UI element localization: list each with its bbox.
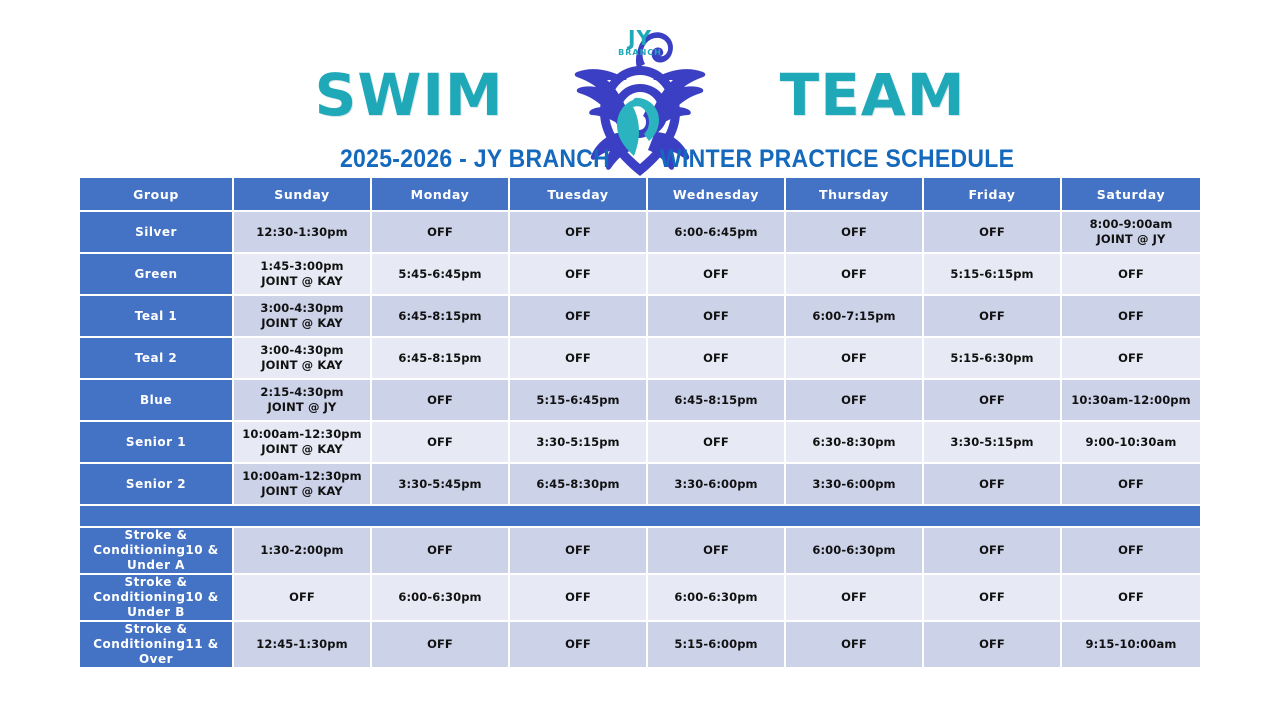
cell-line-1: 1:45-3:00pm	[260, 259, 343, 273]
schedule-cell: OFF	[372, 422, 510, 464]
cell-line-1: OFF	[1118, 477, 1144, 491]
group-label: Blue	[80, 380, 234, 422]
cell-line-1: OFF	[565, 351, 591, 365]
schedule-cell: 8:00-9:00amJOINT @ JY	[1062, 212, 1200, 254]
schedule-cell: OFF	[786, 338, 924, 380]
schedule-cell: OFF	[510, 338, 648, 380]
cell-line-1: OFF	[427, 225, 453, 239]
cell-line-1: OFF	[1118, 309, 1144, 323]
schedule-cell: OFF	[648, 296, 786, 338]
cell-line-2: JOINT @ JY	[1062, 232, 1200, 247]
table-body: Silver12:30-1:30pmOFFOFF6:00-6:45pmOFFOF…	[80, 212, 1200, 669]
cell-line-1: 10:00am-12:30pm	[242, 469, 361, 483]
cell-line-1: 5:15-6:15pm	[950, 267, 1033, 281]
schedule-cell: 3:00-4:30pmJOINT @ KAY	[234, 296, 372, 338]
logo-branch-text: BRANCH	[555, 48, 725, 57]
schedule-cell: 6:00-6:30pm	[372, 575, 510, 622]
schedule-cell: OFF	[1062, 296, 1200, 338]
column-header-tuesday: Tuesday	[510, 178, 648, 212]
schedule-cell: OFF	[786, 575, 924, 622]
cell-line-1: OFF	[841, 267, 867, 281]
cell-line-1: OFF	[979, 477, 1005, 491]
cell-line-1: 1:30-2:00pm	[260, 543, 343, 557]
schedule-title-label: WINTER PRACTICE SCHEDULE	[660, 144, 1028, 174]
column-header-sunday: Sunday	[234, 178, 372, 212]
schedule-cell: 3:30-5:15pm	[924, 422, 1062, 464]
schedule-cell: 10:00am-12:30pmJOINT @ KAY	[234, 422, 372, 464]
cell-line-1: 5:15-6:30pm	[950, 351, 1033, 365]
cell-line-1: OFF	[703, 267, 729, 281]
cell-line-1: OFF	[979, 590, 1005, 604]
schedule-cell: OFF	[372, 380, 510, 422]
schedule-cell: 3:30-5:15pm	[510, 422, 648, 464]
cell-line-1: 5:45-6:45pm	[398, 267, 481, 281]
schedule-cell: OFF	[924, 464, 1062, 506]
cell-line-1: 6:45-8:30pm	[536, 477, 619, 491]
section-divider-row	[80, 506, 1200, 528]
cell-line-1: OFF	[841, 590, 867, 604]
cell-line-1: OFF	[565, 637, 591, 651]
cell-line-1: 6:30-8:30pm	[812, 435, 895, 449]
schedule-cell: OFF	[924, 296, 1062, 338]
cell-line-2: JOINT @ KAY	[234, 274, 370, 289]
schedule-cell: 5:15-6:45pm	[510, 380, 648, 422]
cell-line-1: OFF	[1118, 543, 1144, 557]
cell-line-1: OFF	[841, 393, 867, 407]
column-header-monday: Monday	[372, 178, 510, 212]
schedule-cell: OFF	[510, 296, 648, 338]
cell-line-2: JOINT @ KAY	[234, 484, 370, 499]
schedule-cell: 1:30-2:00pm	[234, 528, 372, 575]
cell-line-1: 3:30-5:45pm	[398, 477, 481, 491]
group-label: Teal 1	[80, 296, 234, 338]
group-label: Teal 2	[80, 338, 234, 380]
schedule-cell: 9:15-10:00am	[1062, 622, 1200, 669]
schedule-cell: OFF	[234, 575, 372, 622]
cell-line-1: 9:15-10:00am	[1086, 637, 1177, 651]
cell-line-1: OFF	[979, 393, 1005, 407]
cell-line-1: OFF	[841, 351, 867, 365]
section-divider-band	[80, 506, 1200, 528]
cell-line-1: 3:30-5:15pm	[536, 435, 619, 449]
cell-line-2: JOINT @ JY	[234, 400, 370, 415]
schedule-cell: OFF	[648, 254, 786, 296]
schedule-cell: OFF	[648, 338, 786, 380]
schedule-cell: 5:15-6:00pm	[648, 622, 786, 669]
group-label: Green	[80, 254, 234, 296]
schedule-cell: 6:00-7:15pm	[786, 296, 924, 338]
table-row: Teal 23:00-4:30pmJOINT @ KAY6:45-8:15pmO…	[80, 338, 1200, 380]
cell-line-1: 6:45-8:15pm	[398, 309, 481, 323]
schedule-cell: OFF	[372, 622, 510, 669]
table-row: Teal 13:00-4:30pmJOINT @ KAY6:45-8:15pmO…	[80, 296, 1200, 338]
column-header-saturday: Saturday	[1062, 178, 1200, 212]
table-row: Blue2:15-4:30pmJOINT @ JYOFF5:15-6:45pm6…	[80, 380, 1200, 422]
schedule-cell: OFF	[786, 212, 924, 254]
cell-line-1: OFF	[979, 637, 1005, 651]
schedule-cell: 1:45-3:00pmJOINT @ KAY	[234, 254, 372, 296]
schedule-cell: OFF	[1062, 254, 1200, 296]
table-row: Green1:45-3:00pmJOINT @ KAY5:45-6:45pmOF…	[80, 254, 1200, 296]
cell-line-1: OFF	[841, 225, 867, 239]
schedule-cell: OFF	[786, 622, 924, 669]
schedule-cell: 5:15-6:30pm	[924, 338, 1062, 380]
table-row: Silver12:30-1:30pmOFFOFF6:00-6:45pmOFFOF…	[80, 212, 1200, 254]
group-label: Stroke & Conditioning11 & Over	[80, 622, 234, 669]
schedule-cell: 6:45-8:15pm	[372, 338, 510, 380]
cell-line-1: OFF	[703, 435, 729, 449]
cell-line-2: JOINT @ KAY	[234, 442, 370, 457]
cell-line-1: 3:30-6:00pm	[674, 477, 757, 491]
schedule-cell: OFF	[372, 212, 510, 254]
cell-line-1: 3:00-4:30pm	[260, 301, 343, 315]
schedule-cell: 12:45-1:30pm	[234, 622, 372, 669]
cell-line-1: 3:30-6:00pm	[812, 477, 895, 491]
cell-line-1: OFF	[703, 351, 729, 365]
schedule-cell: 12:30-1:30pm	[234, 212, 372, 254]
season-branch-label: 2025-2026 - JY BRANCH	[260, 144, 610, 174]
cell-line-1: 3:00-4:30pm	[260, 343, 343, 357]
schedule-cell: 3:30-6:00pm	[648, 464, 786, 506]
cell-line-1: 6:00-6:45pm	[674, 225, 757, 239]
cell-line-1: 12:30-1:30pm	[256, 225, 347, 239]
cell-line-1: 2:15-4:30pm	[260, 385, 343, 399]
schedule-cell: OFF	[786, 380, 924, 422]
group-label-line-1: Stroke & Conditioning	[93, 622, 187, 651]
group-label: Senior 1	[80, 422, 234, 464]
schedule-cell: 10:00am-12:30pmJOINT @ KAY	[234, 464, 372, 506]
practice-schedule-table: Group Sunday Monday Tuesday Wednesday Th…	[80, 178, 1200, 669]
cell-line-1: OFF	[1118, 351, 1144, 365]
cell-line-2: JOINT @ KAY	[234, 316, 370, 331]
schedule-cell: 6:00-6:30pm	[648, 575, 786, 622]
schedule-cell: OFF	[1062, 528, 1200, 575]
schedule-page: SWIMTEAM	[0, 0, 1280, 720]
schedule-cell: 10:30am-12:00pm	[1062, 380, 1200, 422]
cell-line-1: 5:15-6:45pm	[536, 393, 619, 407]
table-header: Group Sunday Monday Tuesday Wednesday Th…	[80, 178, 1200, 212]
column-header-wednesday: Wednesday	[648, 178, 786, 212]
cell-line-1: OFF	[565, 309, 591, 323]
cell-line-1: OFF	[427, 393, 453, 407]
group-label: Senior 2	[80, 464, 234, 506]
column-header-group: Group	[80, 178, 234, 212]
cell-line-1: 9:00-10:30am	[1086, 435, 1177, 449]
schedule-cell: 6:00-6:30pm	[786, 528, 924, 575]
group-label-line-1: Stroke & Conditioning	[93, 528, 187, 557]
cell-line-1: 6:00-6:30pm	[674, 590, 757, 604]
schedule-cell: OFF	[510, 212, 648, 254]
cell-line-1: OFF	[979, 543, 1005, 557]
cell-line-1: 10:30am-12:00pm	[1071, 393, 1190, 407]
schedule-cell: OFF	[372, 528, 510, 575]
column-header-friday: Friday	[924, 178, 1062, 212]
table-row: Stroke & Conditioning10 & Under A1:30-2:…	[80, 528, 1200, 575]
cell-line-1: 6:45-8:15pm	[674, 393, 757, 407]
schedule-cell: 9:00-10:30am	[1062, 422, 1200, 464]
schedule-cell: 3:30-5:45pm	[372, 464, 510, 506]
schedule-cell: 6:45-8:15pm	[648, 380, 786, 422]
cell-line-1: 6:45-8:15pm	[398, 351, 481, 365]
table-row: Senior 110:00am-12:30pmJOINT @ KAYOFF3:3…	[80, 422, 1200, 464]
cell-line-1: OFF	[427, 543, 453, 557]
schedule-cell: OFF	[924, 528, 1062, 575]
cell-line-1: OFF	[979, 225, 1005, 239]
cell-line-1: OFF	[565, 590, 591, 604]
cell-line-1: OFF	[427, 435, 453, 449]
schedule-cell: 5:45-6:45pm	[372, 254, 510, 296]
schedule-cell: 6:00-6:45pm	[648, 212, 786, 254]
schedule-cell: OFF	[510, 575, 648, 622]
schedule-cell: OFF	[1062, 464, 1200, 506]
cell-line-1: OFF	[703, 543, 729, 557]
schedule-cell: 6:45-8:30pm	[510, 464, 648, 506]
schedule-cell: 3:00-4:30pmJOINT @ KAY	[234, 338, 372, 380]
cell-line-1: 6:00-7:15pm	[812, 309, 895, 323]
group-label-line-1: Stroke & Conditioning	[93, 575, 187, 604]
cell-line-1: OFF	[565, 543, 591, 557]
table-row: Stroke & Conditioning10 & Under BOFF6:00…	[80, 575, 1200, 622]
cell-line-1: 12:45-1:30pm	[256, 637, 347, 651]
schedule-cell: OFF	[510, 254, 648, 296]
schedule-cell: OFF	[510, 528, 648, 575]
cell-line-1: OFF	[703, 309, 729, 323]
cell-line-1: OFF	[979, 309, 1005, 323]
schedule-cell: OFF	[786, 254, 924, 296]
cell-line-1: OFF	[1118, 590, 1144, 604]
cell-line-1: OFF	[565, 225, 591, 239]
group-label: Silver	[80, 212, 234, 254]
schedule-cell: 6:30-8:30pm	[786, 422, 924, 464]
group-label: Stroke & Conditioning10 & Under A	[80, 528, 234, 575]
schedule-cell: 6:45-8:15pm	[372, 296, 510, 338]
schedule-cell: OFF	[1062, 575, 1200, 622]
cell-line-1: 6:00-6:30pm	[398, 590, 481, 604]
cell-line-1: 6:00-6:30pm	[812, 543, 895, 557]
group-label: Stroke & Conditioning10 & Under B	[80, 575, 234, 622]
schedule-cell: OFF	[648, 528, 786, 575]
cell-line-1: OFF	[289, 590, 315, 604]
schedule-cell: 3:30-6:00pm	[786, 464, 924, 506]
page-header: SWIMTEAM	[0, 0, 1280, 180]
wordmark-swim: SWIM	[315, 60, 504, 130]
schedule-cell: OFF	[1062, 338, 1200, 380]
cell-line-1: 10:00am-12:30pm	[242, 427, 361, 441]
column-header-thursday: Thursday	[786, 178, 924, 212]
logo-jy-text: JY	[555, 26, 725, 50]
header-row: Group Sunday Monday Tuesday Wednesday Th…	[80, 178, 1200, 212]
cell-line-1: 8:00-9:00am	[1090, 217, 1173, 231]
schedule-cell: OFF	[924, 622, 1062, 669]
schedule-cell: OFF	[924, 380, 1062, 422]
schedule-cell: OFF	[924, 575, 1062, 622]
cell-line-1: OFF	[1118, 267, 1144, 281]
cell-line-1: OFF	[427, 637, 453, 651]
table-row: Senior 210:00am-12:30pmJOINT @ KAY3:30-5…	[80, 464, 1200, 506]
cell-line-2: JOINT @ KAY	[234, 358, 370, 373]
schedule-cell: 5:15-6:15pm	[924, 254, 1062, 296]
schedule-cell: OFF	[510, 622, 648, 669]
schedule-cell: OFF	[924, 212, 1062, 254]
schedule-cell: 2:15-4:30pmJOINT @ JY	[234, 380, 372, 422]
table-row: Stroke & Conditioning11 & Over12:45-1:30…	[80, 622, 1200, 669]
wordmark-team: TEAM	[780, 60, 966, 130]
cell-line-1: OFF	[841, 637, 867, 651]
schedule-cell: OFF	[648, 422, 786, 464]
cell-line-1: 5:15-6:00pm	[674, 637, 757, 651]
cell-line-1: OFF	[565, 267, 591, 281]
cell-line-1: 3:30-5:15pm	[950, 435, 1033, 449]
